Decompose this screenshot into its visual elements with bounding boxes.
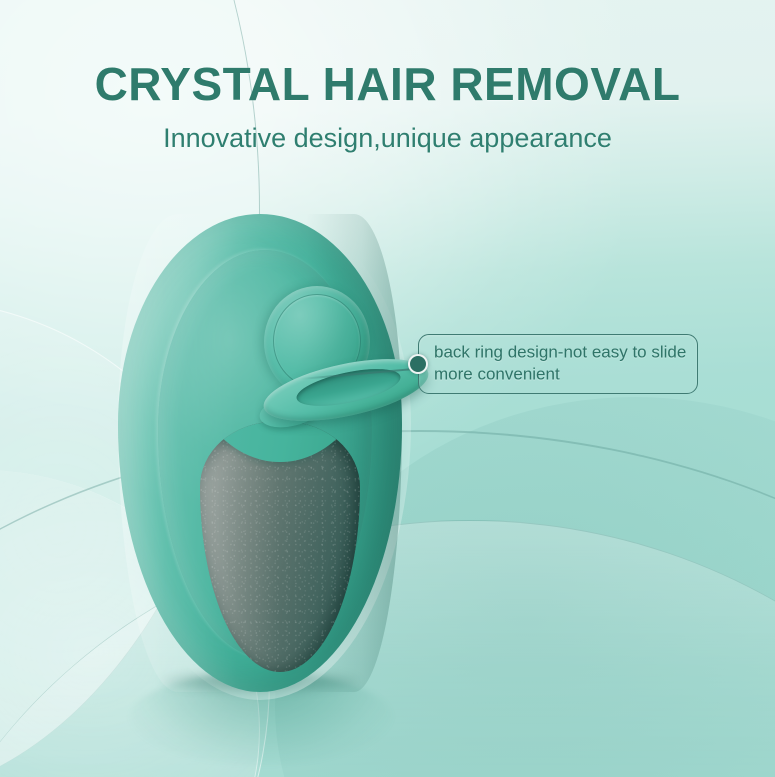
callout-marker-dot (408, 354, 428, 374)
page-subtitle: Innovative design,unique appearance (0, 124, 775, 154)
product-poster: CRYSTAL HAIR REMOVAL Innovative design,u… (0, 0, 775, 777)
product-device (118, 214, 402, 692)
page-title: CRYSTAL HAIR REMOVAL (0, 60, 775, 108)
callout-back-ring: back ring design-not easy to slide more … (418, 334, 698, 394)
callout-text: back ring design-not easy to slide more … (434, 342, 688, 387)
heading-block: CRYSTAL HAIR REMOVAL Innovative design,u… (0, 60, 775, 154)
